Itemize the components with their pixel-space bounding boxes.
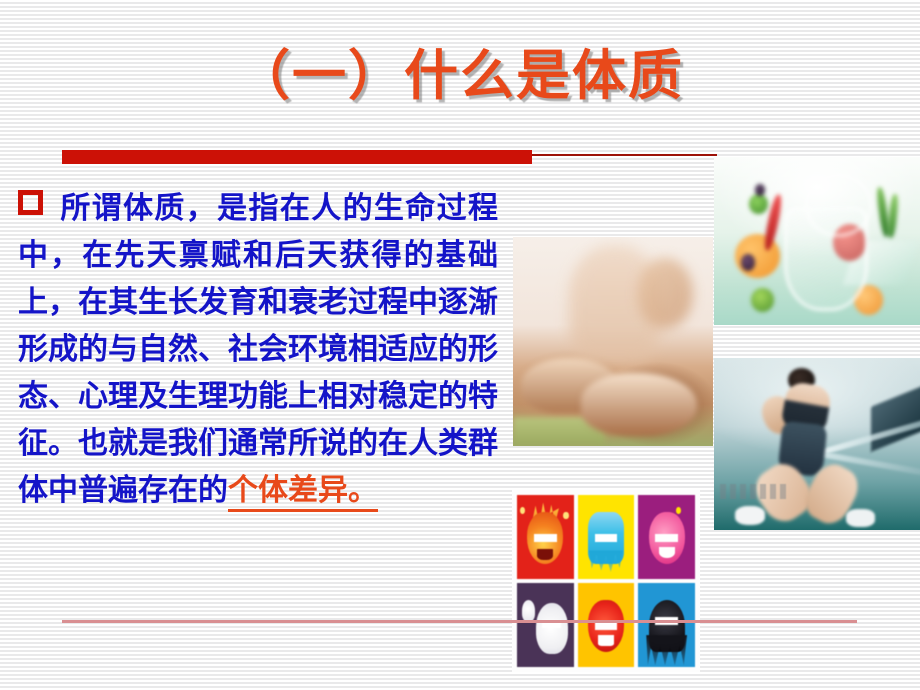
monster-cell-fire [517, 495, 574, 579]
pink-monster-mouth [659, 547, 675, 558]
monster-cell-water [578, 495, 635, 579]
pink-monster-spark [676, 507, 681, 515]
monster-cell-pink [638, 495, 695, 579]
meditation-arm-shape [637, 258, 693, 329]
monster-cell-dark [638, 583, 695, 667]
red-square-bullet-icon [18, 190, 43, 215]
fire-monster-eyes [534, 534, 557, 542]
ghost-monster-small [522, 600, 536, 622]
glass-rim-shape [805, 174, 873, 237]
monster-cell-ghost [517, 583, 574, 667]
meditation-photo [513, 237, 713, 446]
slide-canvas: （一）什么是体质 所谓体质，是指在人的生命过程中，在先天禀赋和后天获得的基础上，… [0, 0, 920, 690]
body-lead-text: 所谓体质，是指在人的生命过程中，在先天禀赋和后天获得的基础上，在其生长发育和衰老… [18, 191, 498, 508]
healthy-food-photo [714, 157, 920, 325]
ghost-monster-body [536, 603, 568, 653]
fire-monster-spark-one [520, 507, 525, 515]
leek-leaf-shape-two [887, 194, 900, 238]
fire-monster-spark-two [563, 512, 568, 520]
monster-cell-angry-red [578, 583, 635, 667]
page-title: （一）什么是体质 [0, 46, 920, 105]
fire-monster-mouth [537, 549, 553, 560]
runner-shoe-shape-one [735, 506, 766, 525]
footer-divider [62, 620, 857, 623]
berry-shape-two [755, 184, 765, 196]
green-herb-shape [749, 194, 768, 214]
title-underline-bar [62, 150, 532, 164]
lime-shape [751, 288, 774, 312]
emphasis-individual-difference: 个体差异。 [228, 473, 378, 512]
cartoon-monsters-grid-photo [512, 490, 700, 672]
food-photo-contents [714, 157, 920, 325]
treadmill-runner-photo [714, 358, 920, 530]
angry-red-monster-mouth [598, 635, 614, 646]
dark-monster-tentacles [646, 635, 687, 665]
runner-shoe-shape-two [846, 509, 875, 526]
pink-monster-eyes [655, 534, 678, 542]
monsters-grid [517, 495, 695, 667]
meditation-hand-right-shape [581, 373, 697, 436]
water-monster-eyes [595, 534, 618, 542]
body-paragraph: 所谓体质，是指在人的生命过程中，在先天禀赋和后天获得的基础上，在其生长发育和衰老… [18, 185, 498, 514]
title-underline-tail [532, 154, 717, 156]
runner-photo-watermark [720, 484, 786, 499]
